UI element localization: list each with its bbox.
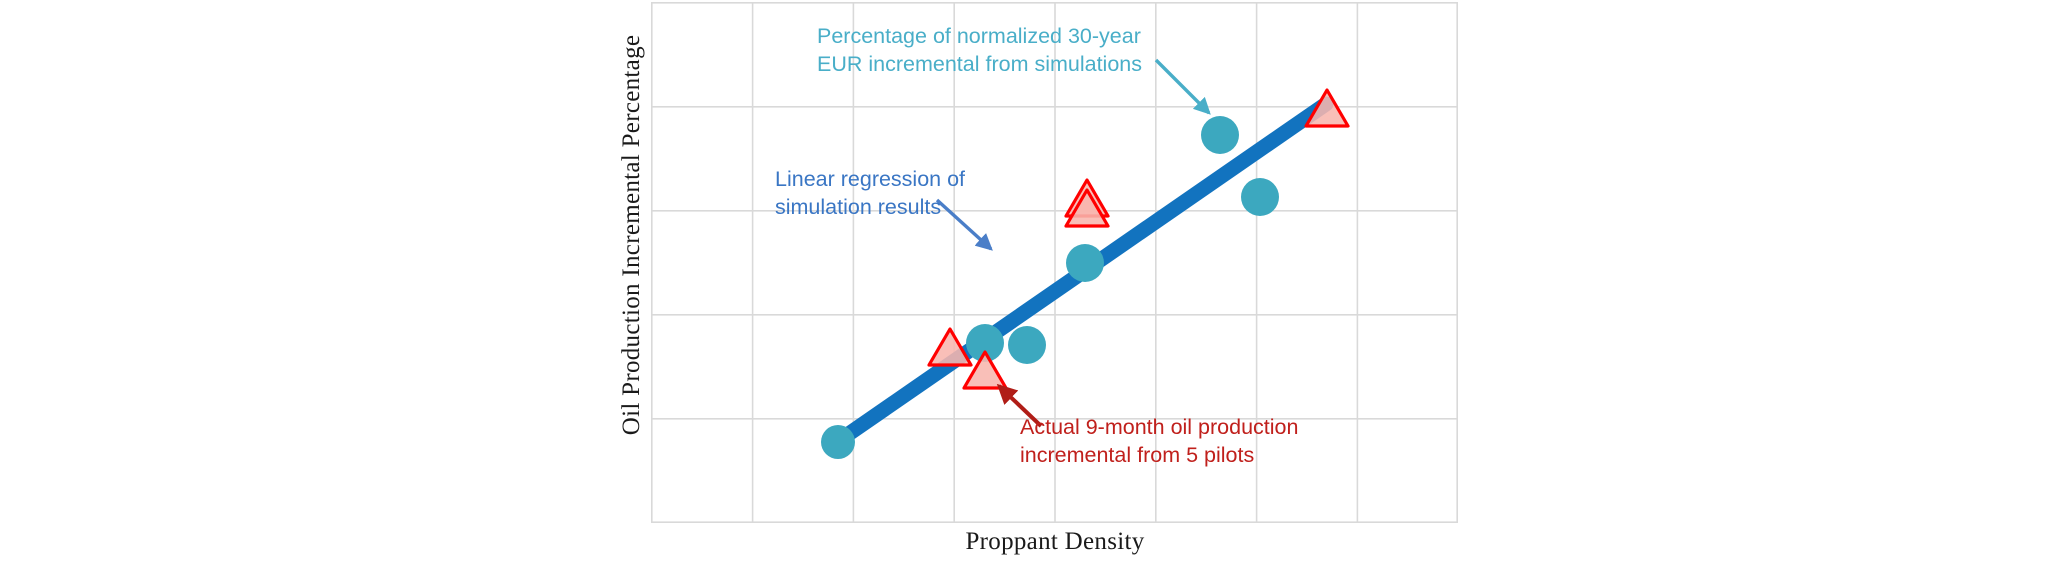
chart-figure: Oil Production Incremental Percentage — [0, 0, 2067, 566]
data-point-circle — [1066, 244, 1104, 282]
regression-annotation-label: Linear regression of simulation results — [775, 165, 965, 222]
data-point-circle — [1201, 116, 1239, 154]
actual-annotation-label: Actual 9-month oil production incrementa… — [1020, 413, 1298, 470]
data-point-circle — [821, 425, 855, 459]
data-point-circle — [1241, 178, 1279, 216]
y-axis-title: Oil Production Incremental Percentage — [615, 10, 649, 460]
eur-annotation-arrow — [1156, 60, 1209, 113]
x-axis-title: Proppant Density — [651, 528, 1459, 556]
eur-annotation-label: Percentage of normalized 30-year EUR inc… — [817, 22, 1142, 79]
data-point-circle — [1008, 326, 1046, 364]
